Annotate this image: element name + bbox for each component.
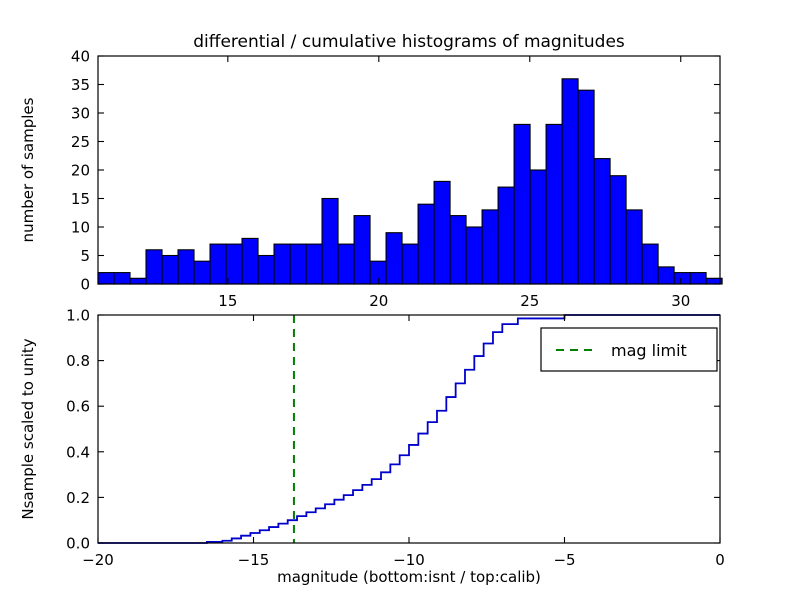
histogram-bar	[498, 187, 514, 284]
histogram-bar	[418, 204, 434, 284]
bottom-ytick-label: 0.2	[66, 489, 90, 507]
top-ytick-label: 5	[80, 247, 90, 265]
bottom-panel-ylabel: Nsample scaled to unity	[19, 338, 37, 519]
bottom-xtick-label: −20	[82, 551, 114, 569]
legend-label-mag-limit: mag limit	[611, 341, 687, 360]
bottom-xtick-label: 0	[715, 551, 725, 569]
bottom-xtick-label: −10	[393, 551, 425, 569]
histogram-bar	[210, 244, 226, 284]
histogram-bar	[226, 244, 242, 284]
histogram-bar	[658, 267, 674, 284]
histogram-bar	[258, 256, 274, 285]
histogram-bar	[386, 233, 402, 284]
bottom-panel-xlabel: magnitude (bottom:isnt / top:calib)	[277, 568, 541, 586]
top-xtick-label: 30	[671, 292, 690, 310]
top-ytick-label: 25	[71, 133, 90, 151]
histogram-bar	[450, 216, 466, 284]
top-ytick-label: 30	[71, 105, 90, 123]
top-ytick-label: 40	[71, 48, 90, 66]
top-xtick-label: 25	[520, 292, 539, 310]
top-xtick-label: 15	[218, 292, 237, 310]
histogram-bar	[530, 170, 546, 284]
bottom-xtick-label: −15	[238, 551, 270, 569]
histogram-bar	[562, 79, 578, 284]
histogram-bar	[402, 244, 418, 284]
top-ytick-label: 20	[71, 162, 90, 180]
histogram-bar	[290, 244, 306, 284]
histogram-bar	[146, 250, 162, 284]
histogram-bar	[594, 159, 610, 284]
histogram-bar	[482, 210, 498, 284]
histogram-bar	[130, 278, 146, 284]
top-panel-ylabel: number of samples	[19, 97, 37, 242]
histogram-bar	[98, 273, 114, 284]
bottom-ytick-label: 0.8	[66, 352, 90, 370]
top-xtick-label: 20	[369, 292, 388, 310]
histogram-bar	[178, 250, 194, 284]
histogram-bar	[690, 273, 706, 284]
top-ytick-label: 35	[71, 76, 90, 94]
histogram-bar	[242, 238, 258, 284]
histogram-bar	[338, 244, 354, 284]
histogram-bar	[466, 227, 482, 284]
bottom-ytick-label: 0.0	[66, 535, 90, 553]
histogram-bar	[114, 273, 130, 284]
histogram-bar	[162, 256, 178, 285]
figure-canvas: differential / cumulative histograms of …	[0, 0, 800, 600]
histogram-bar	[322, 199, 338, 285]
legend[interactable]: mag limit	[541, 328, 717, 371]
histogram-bar	[354, 216, 370, 284]
histogram-bar	[626, 210, 642, 284]
histogram-bar	[434, 181, 450, 284]
histogram-bar	[674, 273, 690, 284]
top-ytick-label: 0	[80, 276, 90, 294]
histogram-bar	[578, 90, 594, 284]
bottom-xtick-label: −5	[553, 551, 575, 569]
histogram-bar	[194, 261, 210, 284]
histogram-bar	[370, 261, 386, 284]
bottom-ytick-label: 0.6	[66, 398, 90, 416]
histogram-bar	[514, 124, 530, 284]
matplotlib-figure: differential / cumulative histograms of …	[0, 0, 800, 600]
histogram-bar	[610, 176, 626, 284]
figure-title: differential / cumulative histograms of …	[193, 32, 625, 52]
histogram-bar	[642, 244, 658, 284]
bottom-ytick-label: 0.4	[66, 443, 90, 461]
top-ytick-label: 15	[71, 190, 90, 208]
top-ytick-label: 10	[71, 219, 90, 237]
histogram-bar	[274, 244, 290, 284]
histogram-bar	[546, 124, 562, 284]
bottom-ytick-label: 1.0	[66, 307, 90, 325]
histogram-bar	[306, 244, 322, 284]
